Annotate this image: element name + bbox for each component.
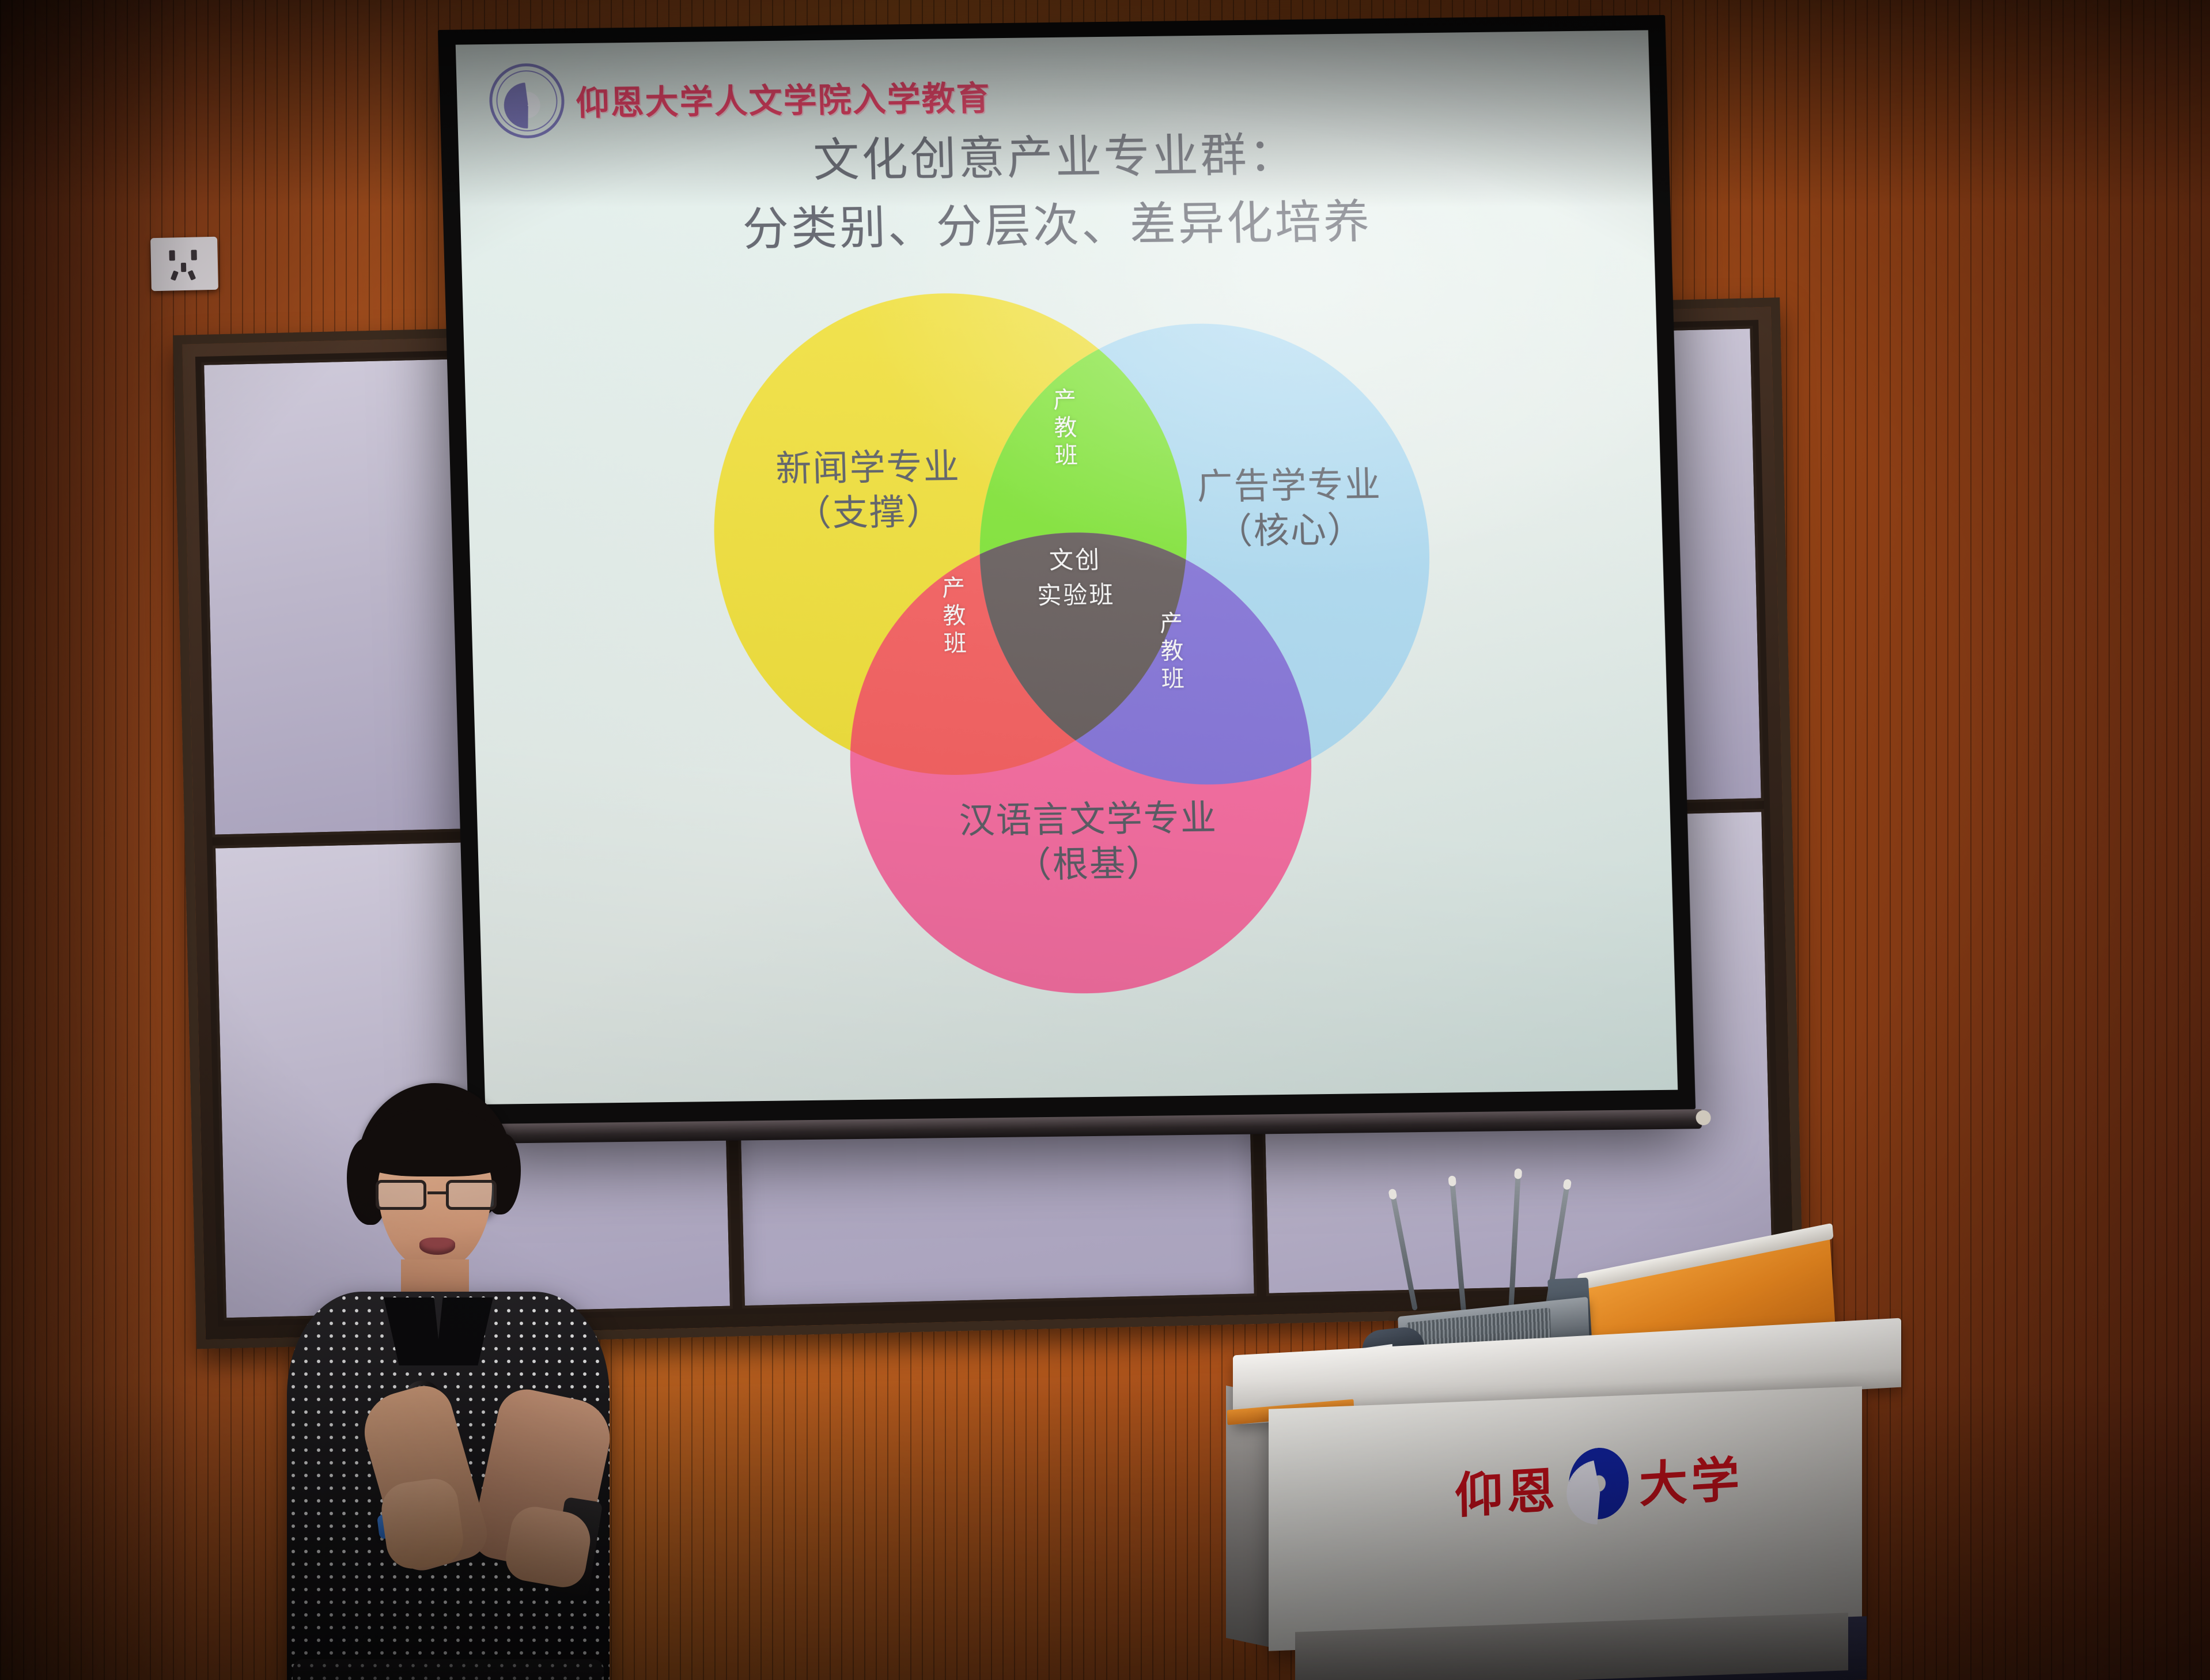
slide-title: 文化创意产业专业群： 分类别、分层次、差异化培养 <box>458 116 1655 267</box>
slide-organization-title: 仰恩大学人文学院入学教育 <box>575 71 991 124</box>
podium-logo-text-right: 大学 <box>1638 1440 1743 1516</box>
university-seal-icon <box>489 63 566 139</box>
presentation-slide: 仰恩大学人文学院入学教育 文化创意产业专业群： 分类别、分层次、差异化培养 <box>456 30 1678 1104</box>
slide-title-line2: 分类别、分层次、差异化培养 <box>460 185 1654 268</box>
speaker-presenter <box>271 1083 639 1680</box>
lecture-hall-scene: 仰恩大学人文学院入学教育 文化创意产业专业群： 分类别、分层次、差异化培养 <box>0 0 2210 1680</box>
projection-screen: 仰恩大学人文学院入学教育 文化创意产业专业群： 分类别、分层次、差异化培养 <box>438 15 1696 1124</box>
lectern-podium: 仰恩 大学 <box>1233 1296 1901 1680</box>
podium-logo-text-left: 仰恩 <box>1454 1451 1559 1527</box>
speaker-mouth <box>419 1238 455 1255</box>
podium-seal-icon <box>1568 1446 1629 1521</box>
venn-diagram: 新闻学专业 （支撑） 广告学专业 （核心） 汉语言文学专业 （根基） 产教班 产… <box>690 281 1471 1004</box>
wall-power-outlet-icon <box>150 237 218 291</box>
eyeglasses-icon <box>373 1180 499 1211</box>
speaker-left-hand <box>378 1475 467 1572</box>
